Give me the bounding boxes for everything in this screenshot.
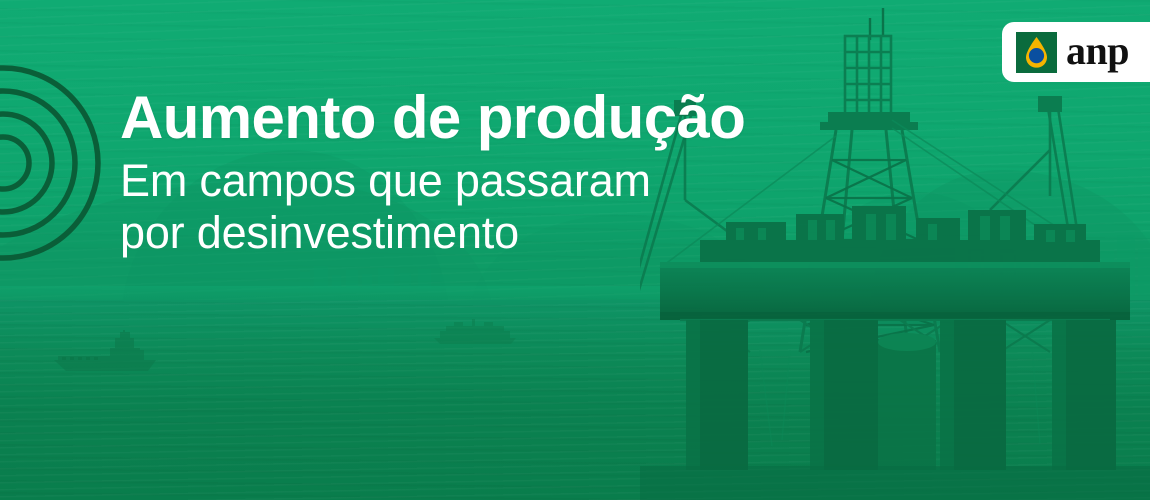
page-subtitle-line-2: por desinvestimento <box>120 207 651 259</box>
supply-vessel <box>52 330 160 374</box>
page-title: Aumento de produção <box>120 86 745 150</box>
anp-oil-drop-icon <box>1016 32 1057 73</box>
page-subtitle: Em campos que passaram por desinvestimen… <box>120 155 651 259</box>
coastline-strip <box>0 286 720 300</box>
anp-logo[interactable]: anp <box>1002 22 1150 82</box>
anp-promotional-banner: Aumento de produção Em campos que passar… <box>0 0 1150 500</box>
concentric-rings-decoration <box>0 48 118 278</box>
ferry-boat <box>432 318 518 346</box>
page-subtitle-line-1: Em campos que passaram <box>120 155 651 207</box>
anp-wordmark: anp <box>1066 31 1129 71</box>
